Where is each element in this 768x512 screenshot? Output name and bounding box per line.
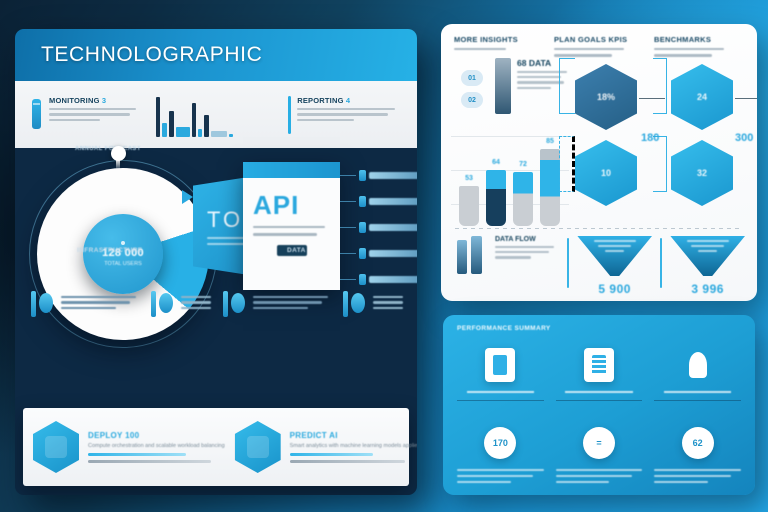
stat-item: MONITORING 3 (29, 96, 144, 134)
bracket (559, 58, 575, 114)
hex-card[interactable]: DEPLOY 100 Compute orchestration and sca… (33, 421, 225, 473)
server-icon (29, 289, 55, 319)
bar: 53 (459, 186, 479, 226)
badge-cell: 170 (457, 427, 544, 486)
badge-cell: 62 (654, 427, 741, 486)
hex-card[interactable]: PREDICT AI Smart analytics with machine … (235, 421, 417, 473)
icon-cell (654, 348, 741, 401)
stat-heading: MONITORING 3 (49, 96, 144, 105)
connector-label (369, 172, 417, 179)
kpi-pill: 02 (461, 92, 483, 108)
bottom-card-strip: DEPLOY 100 Compute orchestration and sca… (23, 408, 409, 486)
hexagon-badge[interactable]: 32 (671, 140, 733, 206)
icon-cell (457, 348, 544, 401)
badge-row: 170 = 62 (457, 427, 741, 486)
hexagon-grid: 18% 24 10 32 180 300 (575, 58, 747, 200)
chart-icon (149, 289, 175, 319)
bar-label: 64 (486, 159, 506, 166)
column: MORE INSIGHTS (454, 35, 544, 57)
hex-card-heading: PREDICT AI (290, 431, 417, 440)
column: PLAN GOALS KPIS (554, 35, 644, 57)
mobile-device-icon (485, 348, 515, 382)
hexagon-number: 180 (641, 132, 659, 144)
hexagon-value: 24 (697, 92, 707, 102)
accent-bar (288, 96, 291, 134)
user-profile-icon (683, 348, 713, 382)
circle-badge[interactable]: 62 (682, 427, 714, 459)
bar-label: 53 (459, 175, 479, 182)
kpi-column-bar (495, 58, 511, 114)
hexagon-value: 18% (597, 92, 615, 102)
connector-node (359, 222, 366, 233)
column-heading: BENCHMARKS (654, 35, 744, 44)
funnel-item: 5 900 (577, 236, 652, 296)
hexagon-network-icon (33, 421, 79, 473)
icon-feature (221, 289, 331, 319)
connector-node (359, 196, 366, 207)
icon-cell (556, 348, 643, 401)
api-label: API (253, 190, 340, 221)
column-headers: MORE INSIGHTS PLAN GOALS KPIS BENCHMARKS (454, 35, 744, 57)
lock-icon (341, 289, 367, 319)
funnel-value: 3 996 (670, 282, 745, 296)
bar-label: 85 (540, 138, 560, 145)
hexagon-badge[interactable]: 24 (671, 64, 733, 130)
page-title: TECHNOLOGRAPHIC (41, 43, 262, 67)
connector-node (359, 248, 366, 259)
hexagon-brain-icon (235, 421, 281, 473)
bar-label: 72 (513, 161, 533, 168)
hex-card-sub: Smart analytics with machine learning mo… (290, 443, 417, 449)
left-infographic-panel: TECHNOLOGRAPHIC MONITORING 3 REPORTING 4 (15, 29, 417, 495)
funnel-row: DATA FLOW 5 900 3 996 (455, 236, 745, 298)
donut-pin-marker (111, 146, 126, 161)
circle-badge[interactable]: = (583, 427, 615, 459)
bar: 64 (486, 170, 506, 226)
hexagon-value: 10 (601, 168, 611, 178)
icon-feature (29, 289, 139, 319)
play-triangle-icon (182, 190, 193, 204)
card-top-bar (243, 162, 340, 178)
right-top-panel: MORE INSIGHTS PLAN GOALS KPIS BENCHMARKS… (441, 24, 757, 301)
document-icon (584, 348, 614, 382)
badge-cell: = (556, 427, 643, 486)
mini-bar-chart (152, 93, 280, 137)
kpi-pill: 01 (461, 70, 483, 86)
vertical-separator (567, 238, 569, 288)
icon-feature-row (15, 276, 417, 332)
donut-pin-label: ANNUAL FORECAST (75, 146, 141, 152)
funnel-legend: DATA FLOW (455, 236, 559, 278)
stats-strip: MONITORING 3 REPORTING 4 (15, 81, 417, 148)
mid-label: DATA (287, 247, 306, 254)
stat-heading: REPORTING 4 (297, 96, 403, 105)
bracket (653, 136, 667, 192)
storage-icon (455, 236, 489, 278)
vertical-bar-chart: 53 64 72 85 (459, 130, 565, 226)
funnel-legend-heading: DATA FLOW (495, 236, 559, 243)
icon-feature (149, 289, 211, 319)
circle-badge[interactable]: 170 (484, 427, 516, 459)
right-bottom-panel: PERFORMANCE SUMMARY 170 = 62 (443, 315, 755, 495)
column: BENCHMARKS (654, 35, 744, 57)
connector-label (369, 224, 417, 231)
mid-label: INFRASTRUCTURE (77, 247, 143, 254)
connector-node (359, 170, 366, 181)
hexagon-badge[interactable]: 18% (575, 64, 637, 130)
bar: 85 (540, 149, 560, 226)
hex-card-sub: Compute orchestration and scalable workl… (88, 443, 225, 449)
hexagon-value: 32 (697, 168, 707, 178)
connector-label (369, 198, 417, 205)
funnel-item: 3 996 (670, 236, 745, 296)
funnel-shape (577, 236, 652, 276)
api-card: API (243, 162, 340, 290)
hexagon-number: 300 (735, 132, 753, 144)
funnel-value: 5 900 (577, 282, 652, 296)
column-heading: MORE INSIGHTS (454, 35, 544, 44)
bracket (653, 58, 667, 114)
icon-feature (341, 289, 403, 319)
bracket (559, 136, 575, 192)
cloud-icon (221, 289, 247, 319)
donut-center-label: TOTAL USERS (104, 261, 142, 267)
stat-item: REPORTING 4 (288, 96, 403, 134)
connector-label (369, 250, 417, 257)
bar: 72 (513, 172, 533, 226)
hexagon-badge[interactable]: 10 (575, 140, 637, 206)
poster-header: TECHNOLOGRAPHIC (15, 29, 417, 81)
hex-card-heading: DEPLOY 100 (88, 431, 225, 440)
server-rack-icon (29, 96, 43, 134)
icon-row (457, 348, 741, 401)
vertical-separator (660, 238, 662, 288)
panel-title: PERFORMANCE SUMMARY (457, 325, 741, 332)
column-heading: PLAN GOALS KPIS (554, 35, 644, 44)
funnel-shape (670, 236, 745, 276)
divider (455, 228, 743, 229)
